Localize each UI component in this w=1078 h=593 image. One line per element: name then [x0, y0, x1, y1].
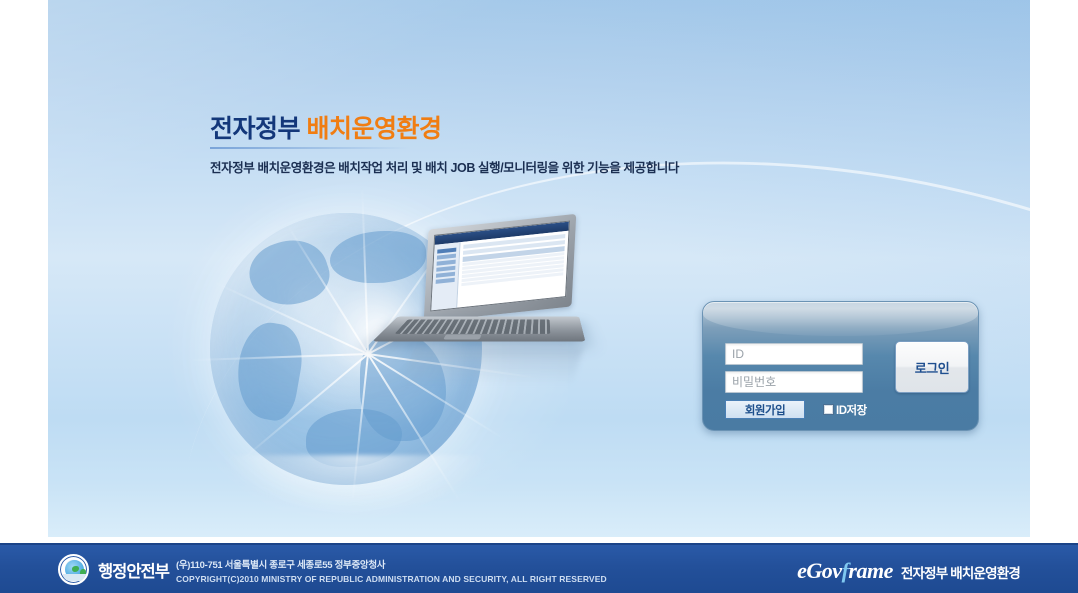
screen-sidebar	[431, 242, 460, 310]
signup-button[interactable]: 회원가입	[725, 400, 805, 419]
page-footer: 행정안전부 (우)110-751 서울특별시 종로구 세종로55 정부중앙청사 …	[0, 543, 1078, 593]
page-title-accent: 배치운영환경	[306, 115, 441, 143]
screen-nav-line	[436, 272, 455, 278]
save-id-label: ID저장	[836, 402, 867, 418]
globe-reflection	[220, 455, 490, 515]
page-title: 전자정부 배치운영환경	[210, 109, 679, 145]
footer-address: (우)110-751 서울특별시 종로구 세종로55 정부중앙청사	[176, 557, 607, 571]
login-panel: 로그인 회원가입 ID저장	[702, 301, 979, 431]
footer-ministry: 행정안전부	[58, 554, 169, 585]
hero-headline: 전자정부 배치운영환경 전자정부 배치운영환경은 배치작업 처리 및 배치 JO…	[210, 109, 679, 176]
ministry-name: 행정안전부	[98, 558, 169, 582]
login-button[interactable]: 로그인	[895, 341, 969, 393]
save-id-checkbox-wrap[interactable]: ID저장	[823, 402, 867, 418]
screen-nav-line	[437, 248, 456, 254]
laptop-keyboard	[395, 320, 551, 334]
footer-copyright: COPYRIGHT(C)2010 MINISTRY OF REPUBLIC AD…	[176, 574, 607, 584]
footer-address-block: (우)110-751 서울특별시 종로구 세종로55 정부중앙청사 COPYRI…	[176, 557, 607, 584]
panel-gloss	[703, 302, 978, 336]
save-id-checkbox[interactable]	[823, 404, 834, 415]
page-title-primary: 전자정부	[210, 115, 300, 143]
screen-content	[457, 231, 568, 308]
login-options-row: 회원가입 ID저장	[725, 400, 867, 419]
screen-nav-line	[436, 266, 455, 272]
globe-landmass	[230, 318, 308, 423]
egovframe-logo: eGovframe	[797, 558, 893, 584]
id-input[interactable]	[725, 343, 863, 365]
title-underline	[210, 147, 410, 149]
screen-body	[431, 231, 568, 311]
emblem-ribbon	[63, 574, 88, 581]
egovframe-subtitle: 전자정부 배치운영환경	[901, 562, 1020, 582]
credential-fields	[725, 343, 863, 399]
egovframe-logo-rame: rame	[848, 558, 892, 583]
hero-banner: 전자정부 배치운영환경 전자정부 배치운영환경은 배치작업 처리 및 배치 JO…	[48, 0, 1030, 537]
screen-nav-line	[436, 278, 455, 284]
login-form: 로그인	[725, 343, 962, 399]
egovframe-logo-egov: eGov	[797, 558, 841, 583]
laptop-touchpad	[443, 334, 481, 339]
emblem-landmass	[72, 566, 79, 572]
ministry-emblem-icon	[58, 554, 89, 585]
screen-nav-line	[437, 260, 456, 266]
password-input[interactable]	[725, 371, 863, 393]
screen-nav-line	[437, 254, 456, 260]
laptop-reflection	[403, 348, 583, 384]
laptop-lid	[424, 214, 577, 322]
hero-subtitle: 전자정부 배치운영환경은 배치작업 처리 및 배치 JOB 실행/모니터링을 위…	[210, 157, 679, 176]
laptop-screen	[430, 221, 570, 312]
egovframe-branding: eGovframe 전자정부 배치운영환경	[797, 558, 1020, 584]
laptop-graphic	[378, 222, 588, 402]
laptop-base	[372, 317, 585, 342]
